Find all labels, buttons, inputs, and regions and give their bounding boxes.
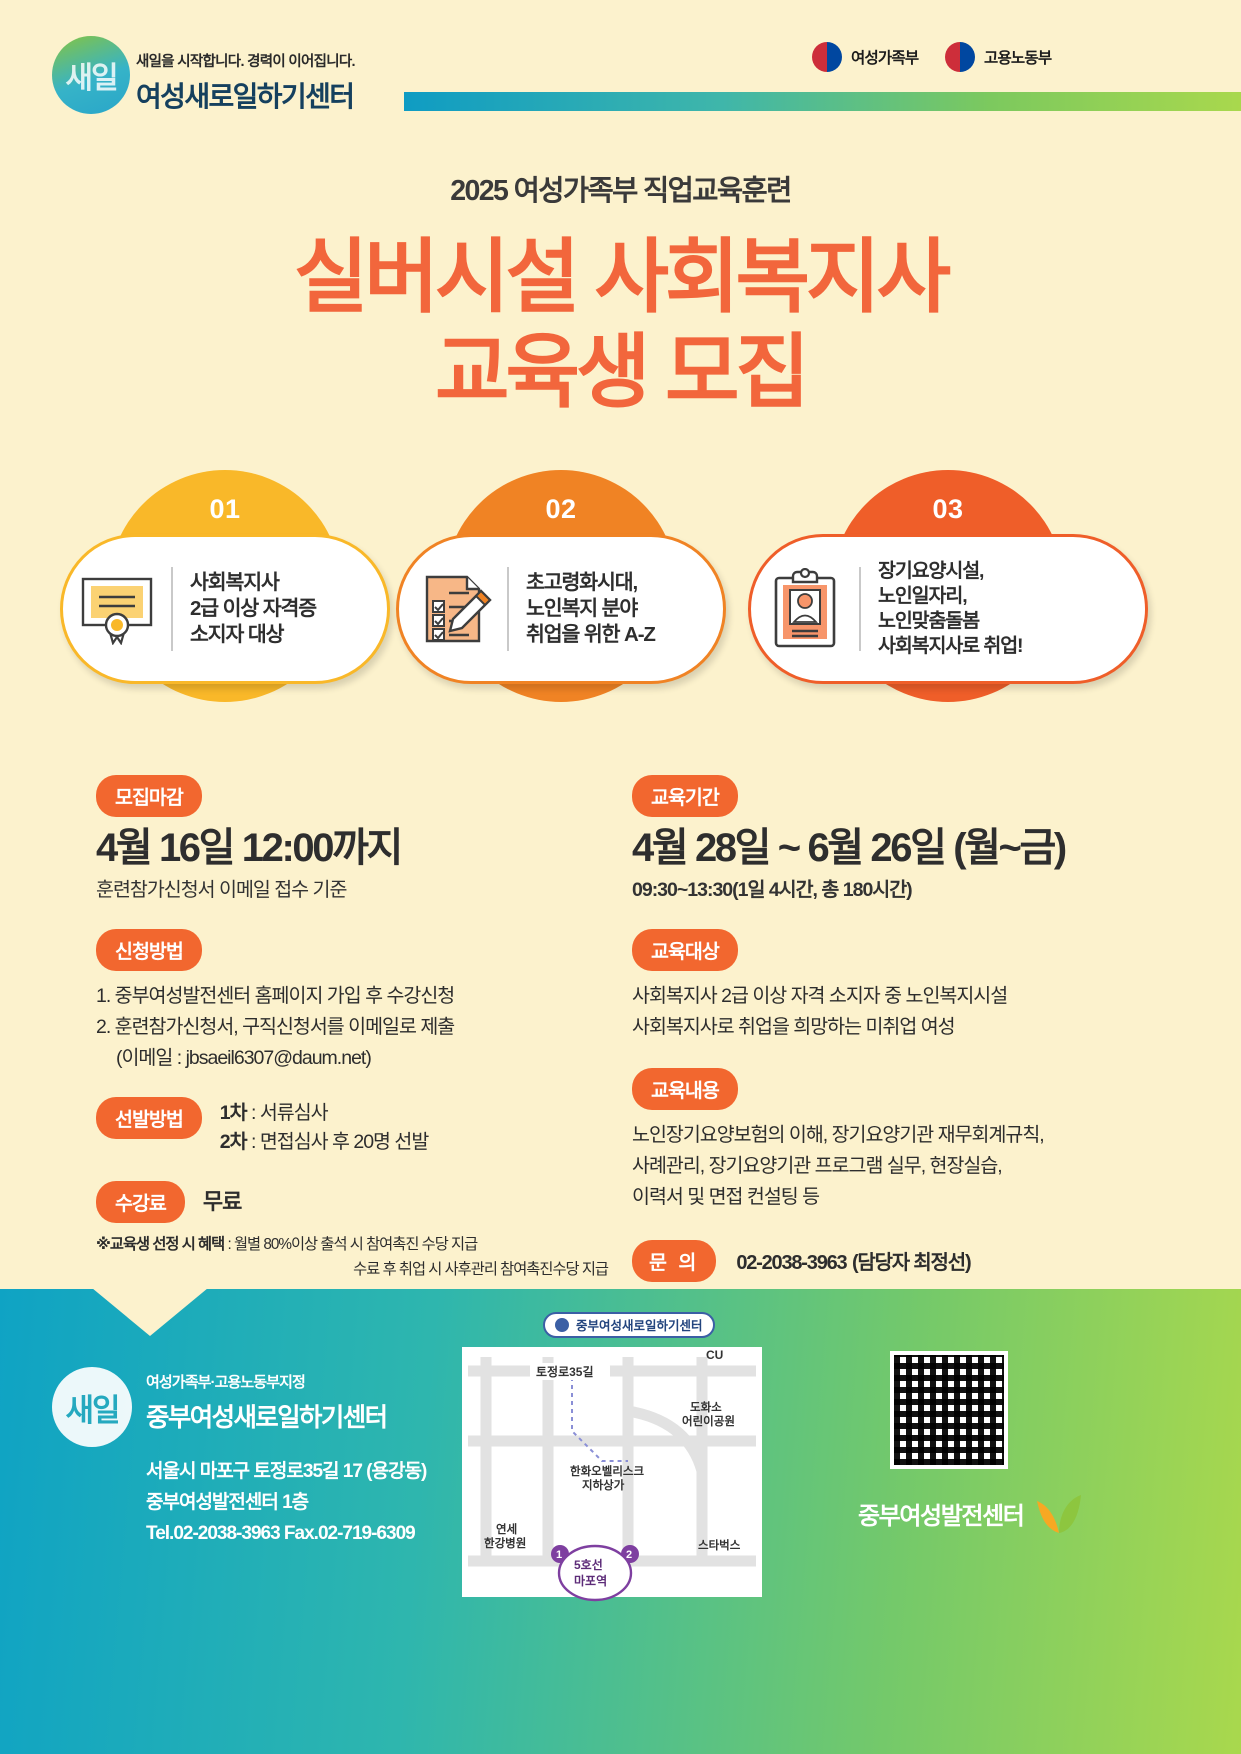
period-time: 09:30~13:30(1일 4시간, 총 180시간)	[632, 877, 1192, 903]
deadline-value: 4월 16일 12:00까지	[96, 826, 616, 870]
period-block: 교육기간 4월 28일 ~ 6월 26일 (월~금) 09:30~13:30(1…	[632, 775, 1192, 903]
location-map[interactable]: 중부여성새로일하기센터 토정로35길 CU 도화소 어린이공원 한화오벨리스크 …	[452, 1311, 772, 1611]
badge-text: 초고령화시대, 노인복지 분야 취업을 위한 A-Z	[509, 570, 655, 649]
inquiry-person: (담당자 최정선)	[852, 1252, 970, 1274]
address-line-1: 서울시 마포구 토정로35길 17 (용강동)	[146, 1457, 426, 1488]
saeil-logo: 새일	[52, 36, 130, 114]
header-logo-text: 새일을 시작합니다. 경력이 이어집니다. 여성새로일하기센터	[136, 50, 355, 115]
footer-brand-name: 중부여성발전센터	[858, 1496, 1023, 1531]
svg-text:마포역: 마포역	[574, 1573, 607, 1588]
apply-email: (이메일 : jbsaeil6307@daum.net)	[96, 1044, 616, 1073]
badge-number: 02	[545, 494, 576, 525]
badge-text-line: 취업을 위한 A-Z	[526, 622, 655, 648]
qr-code-icon[interactable]	[890, 1351, 1008, 1469]
inquiry-block: 문 의 02-2038-3963 (담당자 최정선)	[632, 1240, 1192, 1282]
badge-text-line: 노인맞춤돌봄	[878, 609, 1022, 634]
round-2-label: 2차	[220, 1131, 247, 1153]
feature-badge-02: 02	[396, 470, 726, 702]
period-time-range: 09:30~13:30	[632, 879, 732, 901]
feature-badge-03: 03 장기요양시	[748, 470, 1148, 702]
fee-value: 무료	[203, 1181, 241, 1216]
headline-line-2: 교육생 모집	[0, 326, 1241, 421]
inquiry-phone-row: 02-2038-3963 (담당자 최정선)	[736, 1246, 970, 1276]
target-line-2: 사회복지사로 취업을 희망하는 미취업 여성	[632, 1013, 1192, 1042]
svg-text:어린이공원: 어린이공원	[682, 1414, 735, 1428]
footer-saeil-logo: 새일	[52, 1367, 132, 1447]
header-tagline: 새일을 시작합니다. 경력이 이어집니다.	[136, 50, 355, 71]
title-headline: 실버시설 사회복지사 교육생 모집	[0, 231, 1241, 421]
svg-text:1: 1	[556, 1549, 562, 1561]
badge-text-line: 사회복지사	[190, 570, 316, 596]
selection-lines: 1차 : 서류심사 2차 : 면접심사 후 20명 선발	[220, 1097, 429, 1158]
feature-badge-01: 01 사회복지사 2급 이상 자격증	[60, 470, 390, 702]
deadline-pill: 모집마감	[96, 775, 202, 817]
taegeuk-icon	[945, 42, 975, 72]
badge-text-line: 사회복지사로 취업!	[878, 634, 1022, 659]
id-card-icon	[751, 568, 859, 650]
curriculum-line-2: 사례관리, 장기요양기관 프로그램 실무, 현장실습,	[632, 1152, 1192, 1181]
certificate-icon	[63, 573, 171, 645]
saeil-logo-initial: 새일	[52, 36, 130, 114]
address-line-2: 중부여성발전센터 1층	[146, 1488, 426, 1519]
fee-block: 수강료 무료	[96, 1181, 616, 1223]
badge-text-line: 노인일자리,	[878, 584, 1022, 609]
qr-pattern	[894, 1355, 1004, 1465]
info-section: 모집마감 4월 16일 12:00까지 훈련참가신청서 이메일 접수 기준 신청…	[0, 775, 1241, 1295]
ministry-label: 여성가족부	[851, 46, 918, 68]
svg-text:도화소: 도화소	[690, 1400, 722, 1414]
badge-text-line: 노인복지 분야	[526, 596, 655, 622]
curriculum-pill: 교육내용	[632, 1068, 738, 1110]
deadline-note: 훈련참가신청서 이메일 접수 기준	[96, 877, 616, 903]
period-pill: 교육기간	[632, 775, 738, 817]
footer-brand: 중부여성발전센터	[858, 1489, 1083, 1537]
badge-text-line: 소지자 대상	[190, 622, 316, 648]
selection-pill: 선발방법	[96, 1097, 202, 1139]
badge-card: 장기요양시설, 노인일자리, 노인맞춤돌봄 사회복지사로 취업!	[748, 534, 1148, 684]
ministry-badge-mogef: 여성가족부	[812, 42, 918, 72]
fee-pill: 수강료	[96, 1181, 185, 1223]
header-org-name: 여성새로일하기센터	[136, 75, 355, 115]
curriculum-line-1: 노인장기요양보험의 이해, 장기요양기관 재무회계규칙,	[632, 1121, 1192, 1150]
badge-number: 03	[932, 494, 963, 525]
apply-step-2: 2. 훈련참가신청서, 구직신청서를 이메일로 제출	[96, 1013, 616, 1042]
footer-notch	[92, 1288, 208, 1336]
title-block: 2025 여성가족부 직업교육훈련 실버시설 사회복지사 교육생 모집	[0, 168, 1241, 421]
footer-address: 서울시 마포구 토정로35길 17 (용강동) 중부여성발전센터 1층 Tel.…	[146, 1457, 426, 1549]
badge-text-line: 장기요양시설,	[878, 559, 1022, 584]
target-pill: 교육대상	[632, 929, 738, 971]
target-block: 교육대상 사회복지사 2급 이상 자격 소지자 중 노인복지시설 사회복지사로 …	[632, 929, 1192, 1042]
ministry-badge-moel: 고용노동부	[945, 42, 1051, 72]
period-value: 4월 28일 ~ 6월 26일 (월~금)	[632, 826, 1192, 870]
svg-text:한화오벨리스크: 한화오벨리스크	[570, 1464, 644, 1478]
headline-line-1: 실버시설 사회복지사	[0, 231, 1241, 326]
selection-round-1: 1차 : 서류심사	[220, 1099, 429, 1128]
leaf-logo-icon	[1035, 1489, 1083, 1537]
round-1-value: : 서류심사	[247, 1102, 328, 1124]
svg-text:연세: 연세	[496, 1522, 517, 1536]
selection-round-2: 2차 : 면접심사 후 20명 선발	[220, 1128, 429, 1157]
svg-text:스타벅스: 스타벅스	[698, 1538, 741, 1552]
badge-text-line: 2급 이상 자격증	[190, 596, 316, 622]
badge-text: 사회복지사 2급 이상 자격증 소지자 대상	[173, 570, 316, 649]
ministry-label: 고용노동부	[984, 46, 1051, 68]
how-to-apply-pill: 신청방법	[96, 929, 202, 971]
deadline-block: 모집마감 4월 16일 12:00까지 훈련참가신청서 이메일 접수 기준	[96, 775, 616, 903]
poster-header: 새일 새일을 시작합니다. 경력이 이어집니다. 여성새로일하기센터 여성가족부…	[0, 0, 1241, 140]
round-1-label: 1차	[220, 1102, 247, 1124]
fee-note-1: ※교육생 선정 시 혜택 : 월별 80%이상 출석 시 참여촉진 수당 지급	[96, 1234, 616, 1256]
title-kicker: 2025 여성가족부 직업교육훈련	[0, 168, 1241, 209]
footer-contact: Tel.02-2038-3963 Fax.02-719-6309	[146, 1519, 426, 1550]
fee-note-label: ※교육생 선정 시 혜택	[96, 1236, 224, 1253]
selection-block: 선발방법 1차 : 서류심사 2차 : 면접심사 후 20명 선발	[96, 1097, 616, 1158]
svg-text:한강병원: 한강병원	[484, 1536, 526, 1550]
svg-text:토정로35길: 토정로35길	[536, 1364, 594, 1379]
info-left-column: 모집마감 4월 16일 12:00까지 훈련참가신청서 이메일 접수 기준 신청…	[96, 775, 616, 1281]
taegeuk-icon	[812, 42, 842, 72]
badge-number: 01	[209, 494, 240, 525]
curriculum-block: 교육내용 노인장기요양보험의 이해, 장기요양기관 재무회계규칙, 사례관리, …	[632, 1068, 1192, 1212]
fee-note-2: 수료 후 취업 시 사후관리 참여촉진수당 지급	[96, 1259, 616, 1281]
round-2-value: : 면접심사 후 20명 선발	[247, 1131, 429, 1153]
feature-badges: 01 사회복지사 2급 이상 자격증	[0, 470, 1241, 720]
badge-text-line: 초고령화시대,	[526, 570, 655, 596]
inquiry-pill: 문 의	[632, 1240, 716, 1282]
badge-card: 초고령화시대, 노인복지 분야 취업을 위한 A-Z	[396, 534, 726, 684]
badge-card: 사회복지사 2급 이상 자격증 소지자 대상	[60, 534, 390, 684]
svg-text:지하상가: 지하상가	[582, 1478, 625, 1492]
curriculum-line-3: 이력서 및 면접 컨설팅 등	[632, 1183, 1192, 1212]
info-right-column: 교육기간 4월 28일 ~ 6월 26일 (월~금) 09:30~13:30(1…	[632, 775, 1192, 1282]
checklist-pencil-icon	[399, 571, 507, 647]
header-gradient-bar	[404, 92, 1241, 111]
inquiry-phone: 02-2038-3963	[736, 1252, 846, 1274]
period-time-note: (1일 4시간, 총 180시간)	[732, 879, 912, 901]
footer-designation: 여성가족부·고용노동부지정	[146, 1371, 386, 1392]
footer-center-name: 중부여성새로일하기센터	[146, 1397, 386, 1434]
footer-center-text: 여성가족부·고용노동부지정 중부여성새로일하기센터	[146, 1371, 386, 1434]
svg-text:5호선: 5호선	[574, 1557, 603, 1572]
poster-root: 새일 새일을 시작합니다. 경력이 이어집니다. 여성새로일하기센터 여성가족부…	[0, 0, 1241, 1754]
target-line-1: 사회복지사 2급 이상 자격 소지자 중 노인복지시설	[632, 982, 1192, 1011]
svg-text:중부여성새로일하기센터: 중부여성새로일하기센터	[576, 1318, 703, 1333]
how-to-apply-block: 신청방법 1. 중부여성발전센터 홈페이지 가입 후 수강신청 2. 훈련참가신…	[96, 929, 616, 1073]
poster-footer: 새일 여성가족부·고용노동부지정 중부여성새로일하기센터 서울시 마포구 토정로…	[0, 1289, 1241, 1754]
badge-text: 장기요양시설, 노인일자리, 노인맞춤돌봄 사회복지사로 취업!	[861, 559, 1022, 659]
svg-text:CU: CU	[706, 1348, 723, 1362]
apply-step-1: 1. 중부여성발전센터 홈페이지 가입 후 수강신청	[96, 982, 616, 1011]
fee-note-text: : 월별 80%이상 출석 시 참여촉진 수당 지급	[224, 1236, 477, 1253]
